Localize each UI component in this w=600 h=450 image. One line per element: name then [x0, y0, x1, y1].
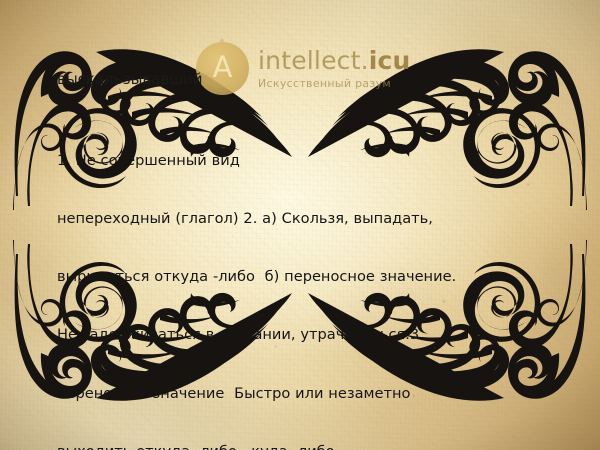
entry-headword: выскальзывавший	[57, 70, 203, 88]
definition-line: Не задерживаться в сознании, утрачиватьс…	[57, 325, 557, 344]
definition-line: переносное значение Быстро или незаметно	[57, 384, 557, 403]
dictionary-card: A intellect.icu Искусственный разум выск…	[0, 0, 600, 450]
definition-line: 1. Не совершенный вид	[57, 151, 557, 170]
definition-line: непереходный (глагол) 2. а) Скользя, вып…	[57, 209, 557, 228]
entry-definition: 1. Не совершенный вид непереходный (глаг…	[57, 112, 557, 450]
definition-line: вырываться откуда -либо б) переносное зн…	[57, 267, 557, 286]
definition-line: выходить откуда -либо , куда -либо	[57, 442, 557, 450]
entry-content: выскальзывавший 1. Не совершенный вид не…	[0, 0, 600, 450]
